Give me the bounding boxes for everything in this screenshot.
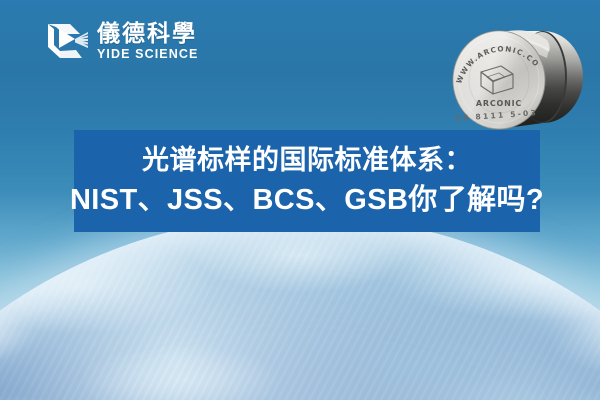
brand-name-en: YIDE SCIENCE xyxy=(97,48,198,61)
earth-globe-image xyxy=(0,215,600,400)
brand-wordmark: 儀德科學 YIDE SCIENCE xyxy=(97,22,198,61)
banner-title: 光谱标样的国际标准体系： NIST、JSS、BCS、GSB你了解吗? xyxy=(74,130,540,232)
brand-name-cn: 儀德科學 xyxy=(97,22,198,45)
svg-text:ARCONIC: ARCONIC xyxy=(476,99,522,108)
reference-standard-disc: WWW.ARCONIC.COM/CRMS ARCONIC SS 8111 5-0… xyxy=(443,18,583,143)
title-line-2: NIST、JSS、BCS、GSB你了解吗? xyxy=(70,183,544,217)
promo-banner: 儀德科學 YIDE SCIENCE xyxy=(0,0,600,400)
brand-logo[interactable]: 儀德科學 YIDE SCIENCE xyxy=(46,20,198,62)
play-arrow-logo-icon xyxy=(46,20,90,62)
title-line-1: 光谱标样的国际标准体系： xyxy=(142,145,472,177)
